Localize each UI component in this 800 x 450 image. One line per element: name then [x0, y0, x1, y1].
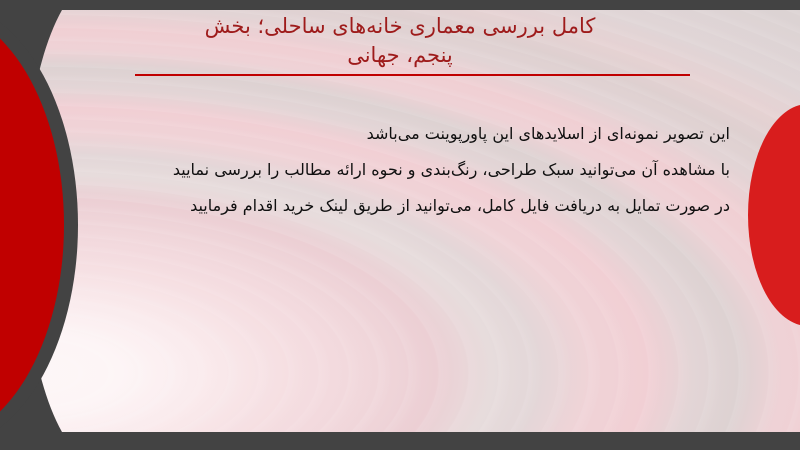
presentation-slide: کامل بررسی معماری خانه‌های ساحلی؛ بخش پن… — [0, 0, 800, 450]
slide-title-line-1: کامل بررسی معماری خانه‌های ساحلی؛ بخش — [110, 12, 690, 41]
body-line-2: با مشاهده آن می‌توانید سبک طراحی، رنگ‌بن… — [70, 158, 730, 181]
body-line-1: این تصویر نمونه‌ای از اسلایدهای این پاور… — [70, 122, 730, 145]
slide-title: کامل بررسی معماری خانه‌های ساحلی؛ بخش پن… — [110, 12, 690, 70]
slide-body-text: این تصویر نمونه‌ای از اسلایدهای این پاور… — [70, 122, 730, 217]
slide-title-line-2: پنجم، جهانی — [110, 41, 690, 70]
title-underline-rule — [135, 74, 690, 76]
body-line-3: در صورت تمایل به دریافت فایل کامل، می‌تو… — [70, 194, 730, 217]
